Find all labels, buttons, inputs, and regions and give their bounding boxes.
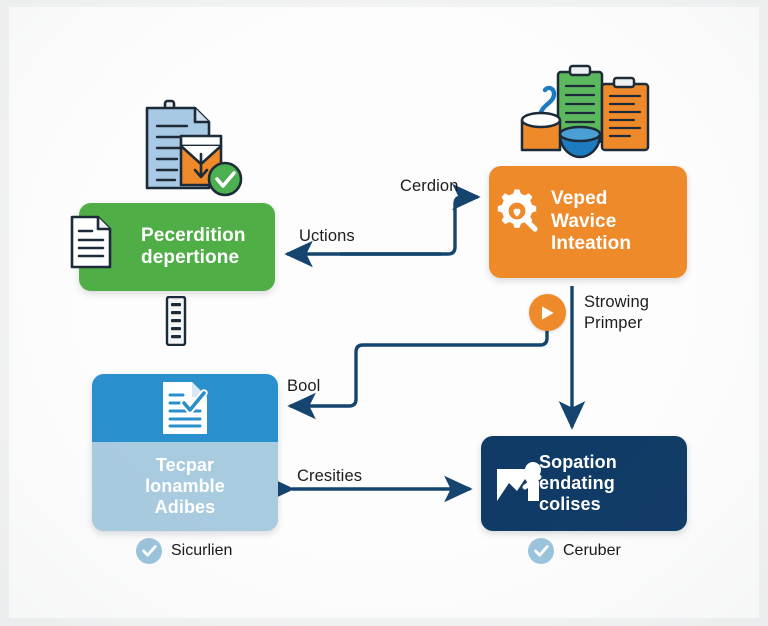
edge-label-bool: Bool [287,377,320,396]
badge-sicurlien[interactable]: Sicurlien [136,538,232,564]
canvas-edge-bottom [0,618,768,626]
diagram-canvas: Pecerdition depertione Veped Wavice Inte… [0,0,768,626]
node-precondition-label: Pecerdition depertione [141,225,246,270]
image-picture-icon [495,461,545,505]
node-tecpar-line2: lonamble [145,476,225,497]
node-veped-line2: Wavice [551,211,631,233]
node-veped-line3: Inteation [551,233,631,255]
documents-download-check-illustration [135,98,247,200]
node-tecpar-line3: Adibes [145,497,225,518]
edge-label-strowing-primper: Strowing Primper [584,292,649,334]
node-sopation-label: Sopation endating colises [539,452,617,516]
node-veped-line1: Veped [551,188,631,210]
edge-label-strowing-line1: Strowing [584,292,649,313]
edge-label-cerdion: Cerdion [400,177,458,196]
document-lines-icon [69,214,113,270]
edge-label-cresities: Cresities [297,467,362,486]
edge-bool-path [290,312,547,406]
gear-magnifier-heart-icon [494,188,540,234]
document-check-icon [159,379,211,437]
node-sopation-line3: colises [539,494,617,515]
badge-ceruber-label: Ceruber [563,542,621,560]
play-badge[interactable] [529,294,566,331]
node-tecpar-line1: Tecpar [145,455,225,476]
badge-sicurlien-label: Sicurlien [171,542,232,560]
edge-cerdion-path [340,197,478,254]
ruler-scale-illustration [164,296,188,346]
canvas-edge-left [0,0,9,626]
node-veped-label: Veped Wavice Inteation [551,188,631,255]
edge-label-uctions: Uctions [299,227,355,246]
node-precondition-line2: depertione [141,247,246,269]
edge-label-strowing-line2: Primper [584,313,649,334]
canvas-edge-top [0,0,768,7]
canvas-edge-right [759,0,768,626]
node-tecpar-lonamble-adibes[interactable]: Tecpar lonamble Adibes [92,374,278,531]
play-triangle-icon [540,305,555,321]
node-sopation-line1: Sopation [539,452,617,473]
node-tecpar-icon-area [92,374,278,442]
node-sopation-line2: endating [539,473,617,494]
node-precondition-line1: Pecerdition [141,225,246,247]
node-tecpar-text-area: Tecpar lonamble Adibes [92,442,278,531]
node-tecpar-label: Tecpar lonamble Adibes [145,455,225,519]
check-circle-icon [528,538,554,564]
badge-ceruber[interactable]: Ceruber [528,538,621,564]
check-circle-icon [136,538,162,564]
clipboards-bowl-illustration [510,62,660,160]
